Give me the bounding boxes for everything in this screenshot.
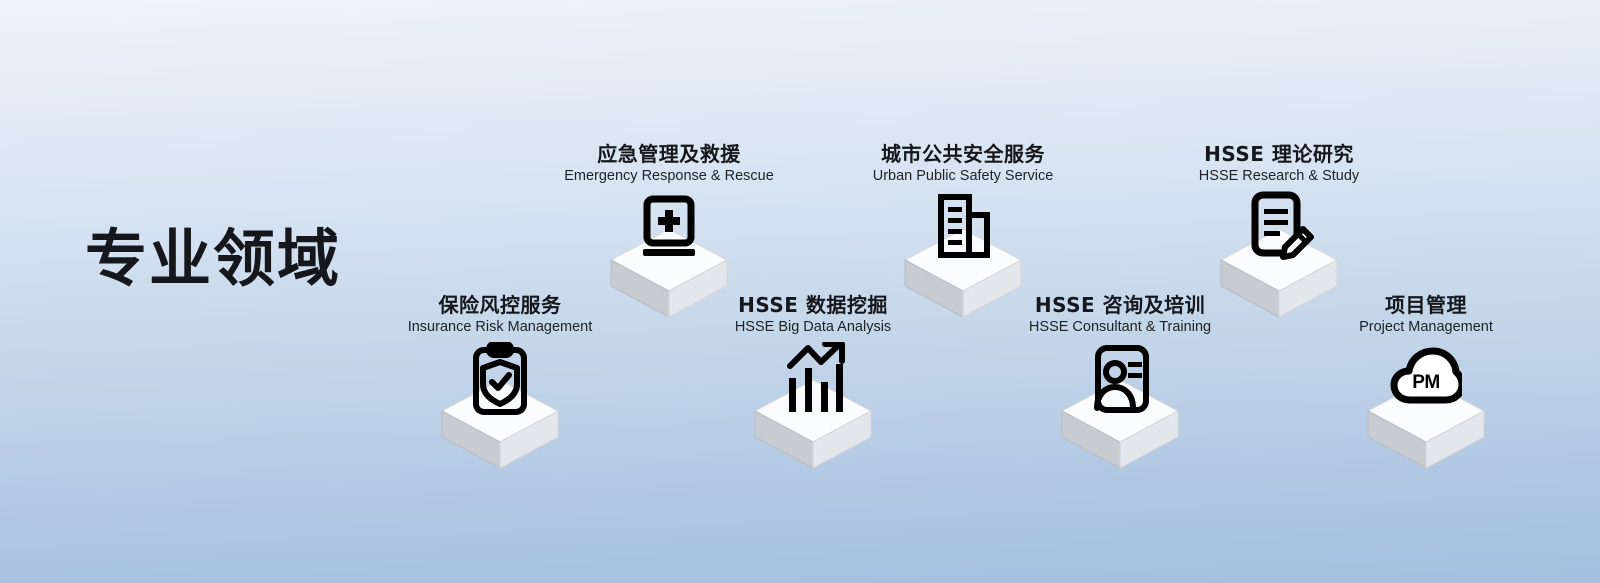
page-title: 专业领域: [85, 228, 341, 290]
domain-label-en: Insurance Risk Management: [335, 320, 665, 336]
domain-item-project-management[interactable]: 项目管理Project Management PM: [1261, 295, 1591, 472]
domain-label-en: Project Management: [1261, 320, 1591, 336]
cloud-pm-icon: PM: [1390, 342, 1462, 420]
domain-art: [335, 342, 665, 472]
domain-label-en: Urban Public Safety Service: [798, 169, 1128, 185]
buildings-icon: [927, 191, 999, 269]
person-id-card-icon: [1084, 342, 1156, 420]
domain-label-cn: HSSE 数据挖掘: [648, 295, 978, 316]
domain-item-hsse-big-data-analysis[interactable]: HSSE 数据挖掘HSSE Big Data Analysis: [648, 295, 978, 472]
domain-label-cn: 应急管理及救援: [504, 144, 834, 165]
professional-domains-banner: 专业领域 应急管理及救援Emergency Response & Rescue …: [0, 0, 1600, 583]
domain-item-hsse-consultant-training[interactable]: HSSE 咨询及培训HSSE Consultant & Training: [955, 295, 1285, 472]
domain-label-cn: 城市公共安全服务: [798, 144, 1128, 165]
document-pencil-icon: [1243, 191, 1315, 269]
domain-art: [955, 342, 1285, 472]
domain-label-en: HSSE Research & Study: [1114, 169, 1444, 185]
domain-art: PM: [1261, 342, 1591, 472]
domain-item-insurance-risk-management[interactable]: 保险风控服务Insurance Risk Management: [335, 295, 665, 472]
domain-label-cn: HSSE 咨询及培训: [955, 295, 1285, 316]
bar-chart-trend-icon: [777, 342, 849, 420]
domain-label-cn: 项目管理: [1261, 295, 1591, 316]
domain-art: [648, 342, 978, 472]
domain-label-cn: 保险风控服务: [335, 295, 665, 316]
clipboard-shield-check-icon: [464, 342, 536, 420]
domain-label-en: HSSE Consultant & Training: [955, 320, 1285, 336]
icon-text-label: PM: [1390, 372, 1462, 394]
domain-label-en: Emergency Response & Rescue: [504, 169, 834, 185]
domain-label-cn: HSSE 理论研究: [1114, 144, 1444, 165]
first-aid-kit-icon: [633, 191, 705, 269]
domain-label-en: HSSE Big Data Analysis: [648, 320, 978, 336]
